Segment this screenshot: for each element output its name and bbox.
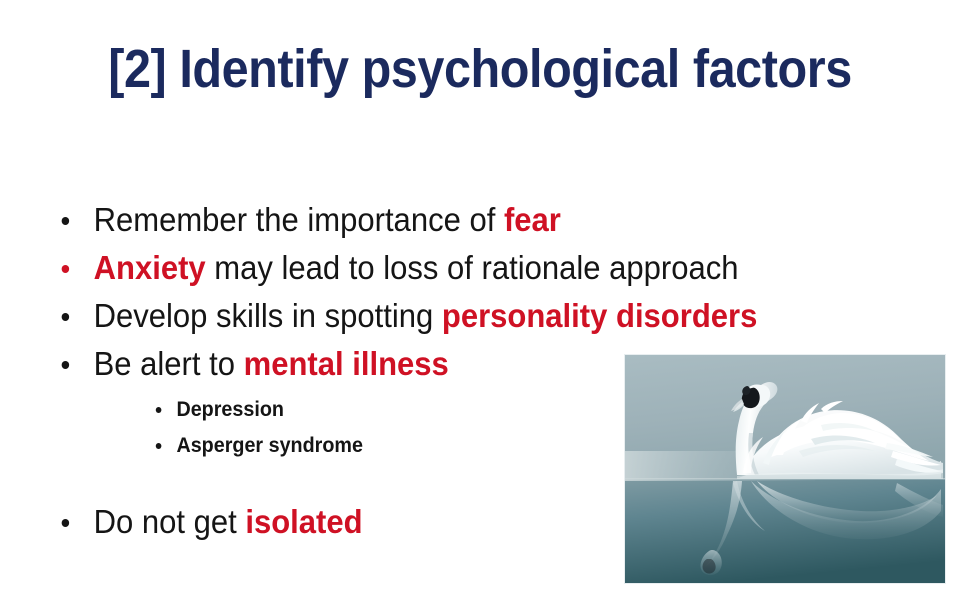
list-item-text: may lead to loss of rationale approach	[206, 249, 739, 286]
swan-photo	[625, 355, 945, 583]
list-item-emphasis: fear	[504, 201, 561, 238]
list-item-emphasis: personality disorders	[442, 297, 757, 334]
page-title: [2] Identify psychological factors	[48, 38, 912, 100]
bullet-dot-icon	[156, 443, 162, 449]
list-item: Develop skills in spotting personality d…	[56, 292, 836, 340]
bullet-dot-icon	[62, 519, 70, 527]
slide-canvas: [2] Identify psychological factors Remem…	[0, 0, 960, 600]
sub-list-item-text: Asperger syndrome	[176, 434, 363, 457]
swan-illustration	[625, 355, 945, 583]
sub-list-item-text: Depression	[176, 398, 284, 421]
list-item-emphasis: isolated	[245, 503, 362, 540]
list-item-emphasis: Anxiety	[94, 249, 206, 286]
list-item-text: Remember the importance of	[94, 201, 504, 238]
bullet-dot-icon	[156, 407, 162, 413]
list-item: Anxiety may lead to loss of rationale ap…	[56, 244, 836, 292]
list-item-text: Be alert to	[94, 345, 244, 382]
list-item-text: Do not get	[94, 503, 246, 540]
list-item-text: Develop skills in spotting	[94, 297, 442, 334]
list-item-emphasis: mental illness	[244, 345, 449, 382]
list-item: Remember the importance of fear	[56, 196, 836, 244]
bullet-dot-icon	[62, 361, 70, 369]
bullet-dot-icon	[62, 217, 70, 225]
bullet-dot-icon	[62, 265, 70, 273]
bullet-dot-icon	[62, 313, 70, 321]
